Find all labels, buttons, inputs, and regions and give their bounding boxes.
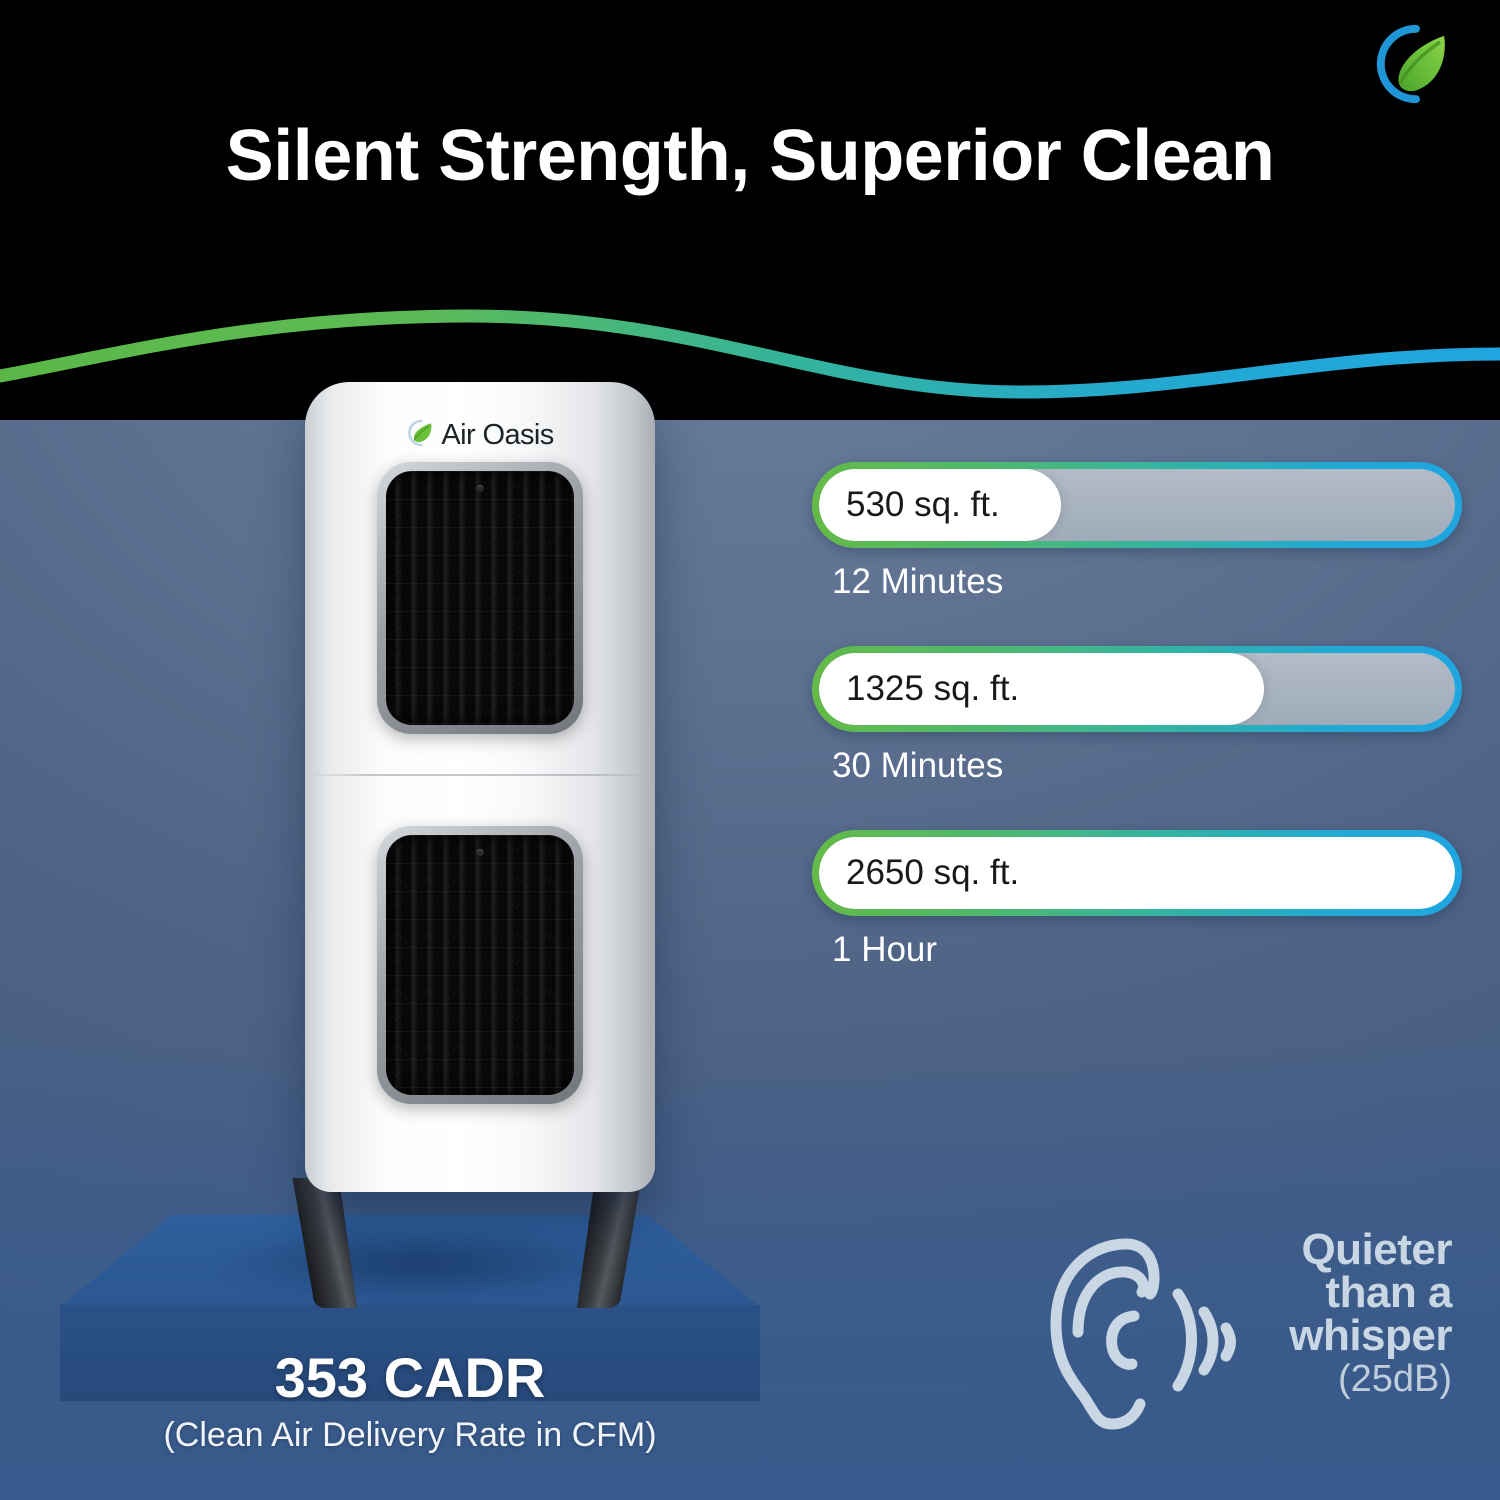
header-background [0,0,1500,420]
page-title: Silent Strength, Superior Clean [0,115,1500,197]
air-grille-bottom-icon [377,826,583,1104]
quiet-line-3: whisper [1222,1314,1452,1357]
coverage-bar-track-outer: 2650 sq. ft. [812,830,1462,916]
coverage-bar-value: 2650 sq. ft. [846,853,1019,893]
coverage-bar-group: 2650 sq. ft. 1 Hour [812,830,1462,970]
coverage-bar-caption: 12 Minutes [832,562,1462,602]
air-grille-top-icon [377,462,583,734]
sensor-dot-icon [477,485,484,492]
sensor-dot-icon [477,849,484,856]
cadr-headline: 353 CADR [60,1345,760,1410]
quiet-line-2: than a [1222,1271,1452,1314]
coverage-bar-track-outer: 1325 sq. ft. [812,646,1462,732]
coverage-bar-value: 1325 sq. ft. [846,669,1019,709]
coverage-bar-group: 1325 sq. ft. 30 Minutes [812,646,1462,786]
leaf-circle-logo-icon [1372,20,1460,108]
quiet-block: Quieter than a whisper (25dB) [1030,1228,1470,1448]
product-brand-logo: Air Oasis [406,418,553,453]
product-brand-name: Air Oasis [441,419,553,452]
leaf-logo-icon [406,418,436,453]
coverage-bar-caption: 1 Hour [832,930,1462,970]
quiet-text-block: Quieter than a whisper (25dB) [1222,1228,1452,1399]
coverage-bar-group: 530 sq. ft. 12 Minutes [812,462,1462,602]
coverage-bar-chart: 530 sq. ft. 12 Minutes 1325 sq. ft. 30 M… [812,462,1462,970]
quiet-decibels: (25dB) [1222,1361,1452,1398]
cadr-block: 353 CADR (Clean Air Delivery Rate in CFM… [60,1345,760,1455]
cadr-subtext: (Clean Air Delivery Rate in CFM) [60,1416,760,1455]
product-shadow [210,1225,630,1295]
coverage-bar-track-outer: 530 sq. ft. [812,462,1462,548]
purifier-seam [309,774,651,776]
infographic-canvas: Silent Strength, Superior Clean Air Oasi… [0,0,1500,1500]
air-purifier-product: Air Oasis [305,382,655,1192]
grille-mesh [386,471,574,725]
ear-sound-waves-icon [1030,1228,1245,1450]
quiet-line-1: Quieter [1222,1228,1452,1271]
coverage-bar-value: 530 sq. ft. [846,485,1000,525]
grille-mesh [386,835,574,1095]
coverage-bar-caption: 30 Minutes [832,746,1462,786]
